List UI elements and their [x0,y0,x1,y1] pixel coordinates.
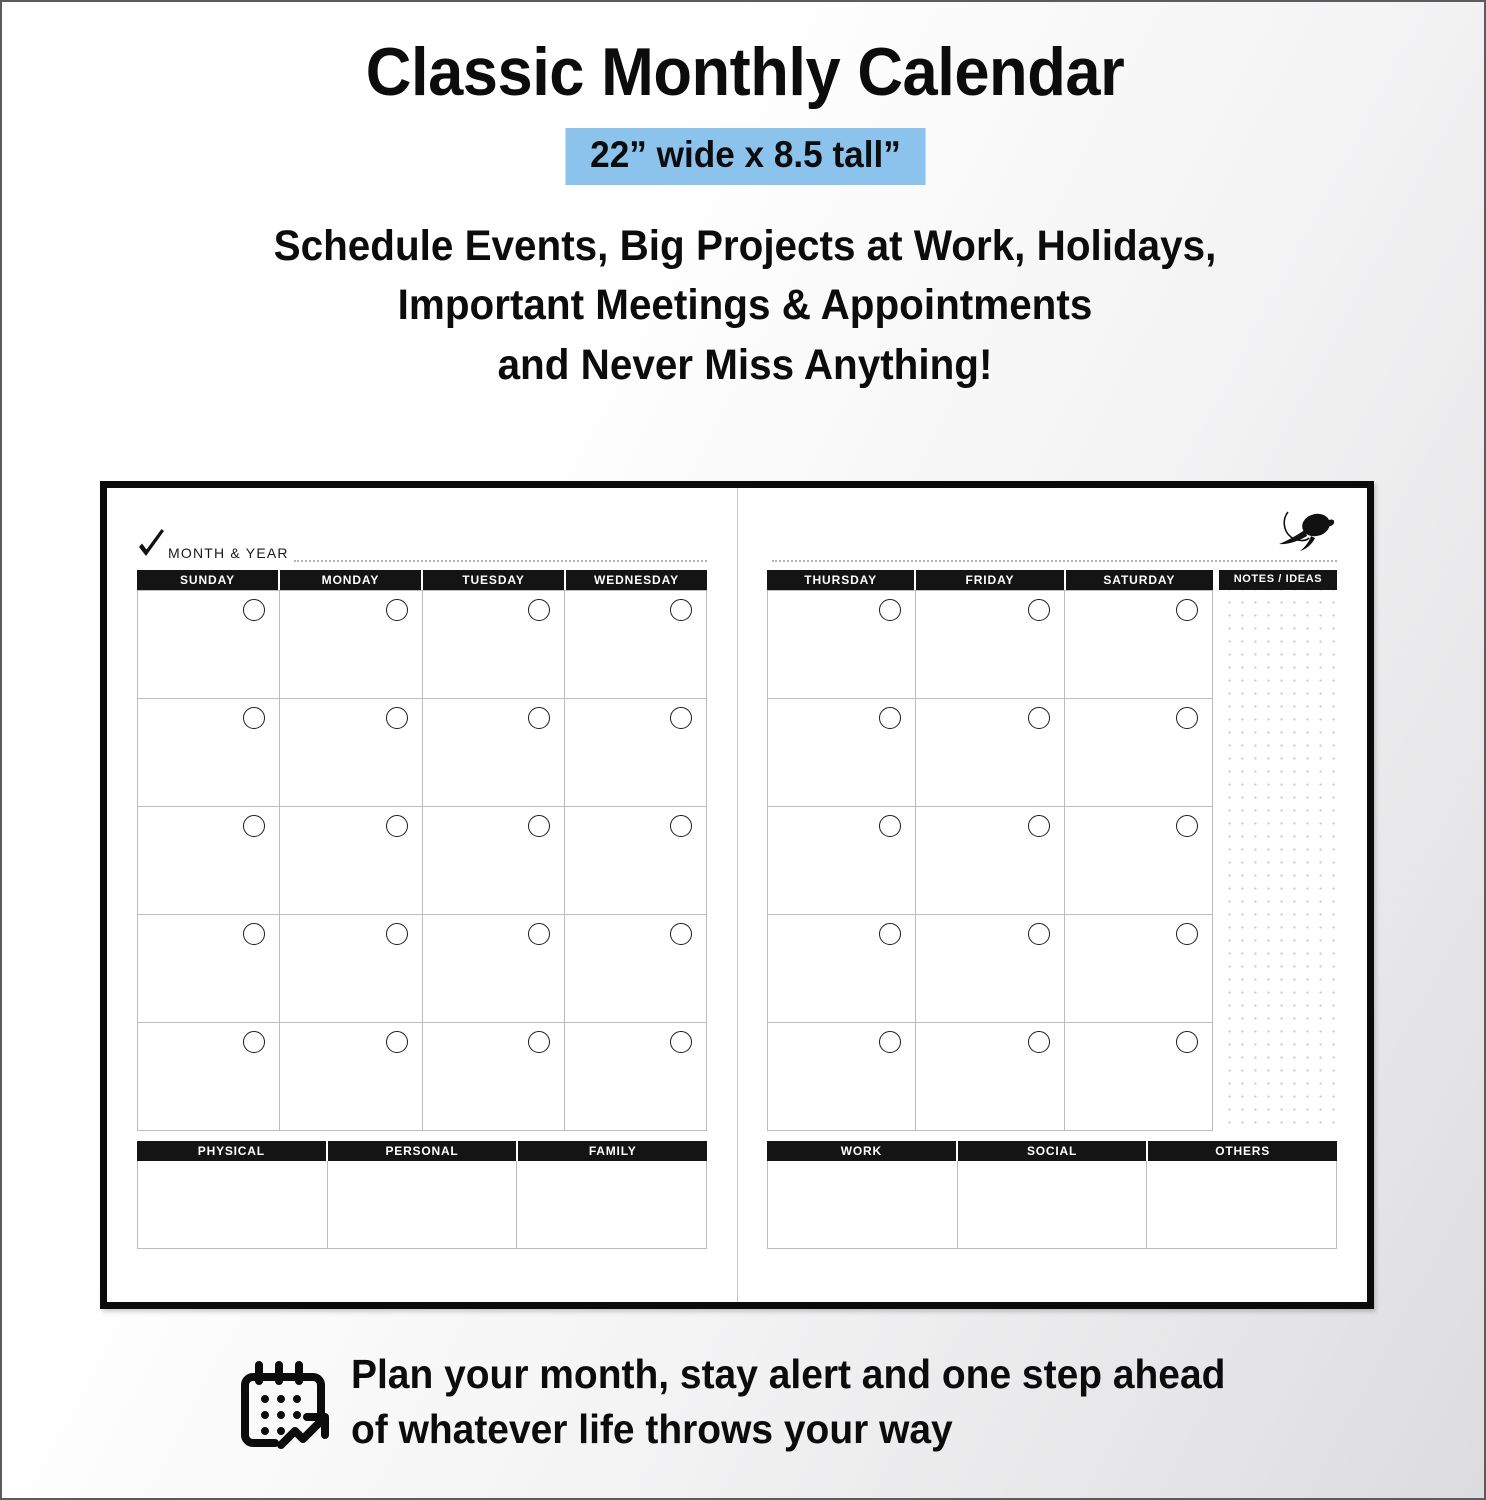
calendar-day-cell[interactable] [138,915,280,1023]
notes-ideas-header: NOTES / IDEAS [1219,570,1337,590]
right-day-header-row: THURSDAY FRIDAY SATURDAY NOTES / IDEAS [767,570,1337,590]
date-number-circle[interactable] [670,923,692,945]
notes-ideas-column [1219,590,1337,1131]
date-number-circle[interactable] [1176,599,1198,621]
calendar-week-row [768,591,1213,699]
date-number-circle[interactable] [386,815,408,837]
calendar-day-cell[interactable] [1065,915,1213,1023]
calendar-day-cell[interactable] [768,807,916,915]
date-number-circle[interactable] [386,707,408,729]
calendar-week-row [138,591,707,699]
right-category-grid: WORK SOCIAL OTHERS [767,1141,1337,1249]
date-number-circle[interactable] [243,923,265,945]
date-number-circle[interactable] [1028,923,1050,945]
right-header-line [767,518,1337,562]
date-number-circle[interactable] [670,815,692,837]
calendar-day-cell[interactable] [423,807,565,915]
calendar-day-cell[interactable] [1065,699,1213,807]
date-number-circle[interactable] [386,1031,408,1053]
right-grid-wrap [767,590,1337,1131]
day-header-friday: FRIDAY [916,570,1063,590]
calendar-day-cell[interactable] [916,915,1064,1023]
date-number-circle[interactable] [1028,1031,1050,1053]
month-year-label: MONTH & YEAR [168,545,289,562]
date-number-circle[interactable] [528,707,550,729]
date-number-circle[interactable] [243,599,265,621]
footer-text: Plan your month, stay alert and one step… [351,1347,1225,1456]
calendar-week-row [768,915,1213,1023]
category-box-personal[interactable] [328,1161,518,1249]
calendar-week-row [138,915,707,1023]
month-year-writeline[interactable] [294,549,707,562]
date-number-circle[interactable] [670,1031,692,1053]
calendar-week-row [768,807,1213,915]
date-number-circle[interactable] [879,923,901,945]
tagline-line-1: Schedule Events, Big Projects at Work, H… [274,222,1217,270]
footer-line-1: Plan your month, stay alert and one step… [351,1351,1225,1397]
date-number-circle[interactable] [528,1031,550,1053]
right-category-bodies [767,1161,1337,1249]
right-writeline[interactable] [772,549,1337,562]
calendar-day-cell[interactable] [280,699,422,807]
left-grid-wrap [137,590,707,1131]
calendar-day-cell[interactable] [768,1023,916,1131]
calendar-day-cell[interactable] [916,807,1064,915]
calendar-day-cell[interactable] [138,591,280,699]
category-box-physical[interactable] [138,1161,328,1249]
left-category-headers: PHYSICAL PERSONAL FAMILY [137,1141,707,1161]
calendar-day-cell[interactable] [138,1023,280,1131]
calendar-day-cell[interactable] [1065,591,1213,699]
notes-ideas-dotgrid[interactable] [1219,590,1337,1131]
date-number-circle[interactable] [243,815,265,837]
calendar-day-cell[interactable] [138,699,280,807]
calendar-day-cell[interactable] [423,699,565,807]
bird-silhouette-logo-icon [1275,508,1337,556]
header-section: Classic Monthly Calendar 22” wide x 8.5 … [2,2,1486,395]
day-header-monday: MONDAY [280,570,421,590]
date-number-circle[interactable] [879,815,901,837]
check-icon [137,528,167,562]
category-box-social[interactable] [958,1161,1148,1249]
tagline-line-2: Important Meetings & Appointments [398,281,1093,329]
date-number-circle[interactable] [386,599,408,621]
calendar-week-row [138,699,707,807]
calendar-right-page: THURSDAY FRIDAY SATURDAY NOTES / IDEAS W… [737,488,1367,1302]
category-header-family: FAMILY [518,1141,707,1161]
footer-section: Plan your month, stay alert and one step… [2,1347,1486,1457]
left-category-bodies [137,1161,707,1249]
calendar-pages: MONTH & YEAR SUNDAY MONDAY TUESDAY WEDNE… [107,488,1367,1302]
day-header-sunday: SUNDAY [137,570,278,590]
date-number-circle[interactable] [528,815,550,837]
size-badge-row: 22” wide x 8.5 tall” [2,128,1486,185]
day-header-thursday: THURSDAY [767,570,914,590]
left-day-header-row: SUNDAY MONDAY TUESDAY WEDNESDAY [137,570,707,590]
calendar-day-cell[interactable] [565,1023,707,1131]
calendar-day-cell[interactable] [280,1023,422,1131]
date-number-circle[interactable] [1176,707,1198,729]
calendar-left-page: MONTH & YEAR SUNDAY MONDAY TUESDAY WEDNE… [107,488,737,1302]
date-number-circle[interactable] [1028,707,1050,729]
calendar-day-cell[interactable] [916,591,1064,699]
calendar-day-cell[interactable] [280,915,422,1023]
category-header-others: OTHERS [1148,1141,1337,1161]
date-number-circle[interactable] [243,1031,265,1053]
calendar-week-row [768,699,1213,807]
month-year-field[interactable]: MONTH & YEAR [137,518,707,562]
date-number-circle[interactable] [1176,815,1198,837]
date-number-circle[interactable] [879,599,901,621]
category-header-social: SOCIAL [958,1141,1147,1161]
date-number-circle[interactable] [386,923,408,945]
right-category-section: WORK SOCIAL OTHERS [767,1141,1337,1249]
calendar-day-cell[interactable] [565,807,707,915]
category-header-personal: PERSONAL [328,1141,517,1161]
date-number-circle[interactable] [528,599,550,621]
date-number-circle[interactable] [670,599,692,621]
calendar-day-cell[interactable] [280,591,422,699]
calendar-day-cell[interactable] [565,699,707,807]
tagline-line-3: and Never Miss Anything! [498,341,993,389]
calendar-day-cell[interactable] [138,807,280,915]
right-category-headers: WORK SOCIAL OTHERS [767,1141,1337,1161]
calendar-day-cell[interactable] [768,591,916,699]
calendar-trend-icon [231,1353,335,1457]
calendar-day-cell[interactable] [565,915,707,1023]
date-number-circle[interactable] [1176,923,1198,945]
calendar-day-cell[interactable] [916,1023,1064,1131]
calendar-day-cell[interactable] [423,591,565,699]
date-number-circle[interactable] [1028,815,1050,837]
right-date-grid [767,590,1213,1131]
date-number-circle[interactable] [670,707,692,729]
category-header-physical: PHYSICAL [137,1141,326,1161]
calendar-day-cell[interactable] [1065,807,1213,915]
calendar-spread: MONTH & YEAR SUNDAY MONDAY TUESDAY WEDNE… [100,481,1374,1309]
footer-line-2: of whatever life throws your way [351,1406,953,1452]
day-header-wednesday: WEDNESDAY [566,570,707,590]
category-box-family[interactable] [517,1161,707,1249]
calendar-week-row [138,1023,707,1131]
date-number-circle[interactable] [879,1031,901,1053]
calendar-week-row [768,1023,1213,1131]
day-header-tuesday: TUESDAY [423,570,564,590]
tagline: Schedule Events, Big Projects at Work, H… [47,185,1444,395]
calendar-day-cell[interactable] [280,807,422,915]
calendar-day-cell[interactable] [768,915,916,1023]
date-number-circle[interactable] [528,923,550,945]
calendar-week-row [138,807,707,915]
calendar-day-cell[interactable] [916,699,1064,807]
calendar-day-cell[interactable] [423,1023,565,1131]
calendar-day-cell[interactable] [565,591,707,699]
date-number-circle[interactable] [1028,599,1050,621]
date-number-circle[interactable] [243,707,265,729]
size-badge: 22” wide x 8.5 tall” [565,128,925,185]
left-category-grid: PHYSICAL PERSONAL FAMILY [137,1141,707,1249]
date-number-circle[interactable] [879,707,901,729]
category-header-work: WORK [767,1141,956,1161]
page-title: Classic Monthly Calendar [54,2,1436,108]
calendar-day-cell[interactable] [1065,1023,1213,1131]
date-number-circle[interactable] [1176,1031,1198,1053]
calendar-day-cell[interactable] [423,915,565,1023]
category-box-others[interactable] [1147,1161,1337,1249]
product-image-canvas: Classic Monthly Calendar 22” wide x 8.5 … [0,0,1486,1500]
day-header-saturday: SATURDAY [1066,570,1213,590]
category-box-work[interactable] [768,1161,958,1249]
left-category-section: PHYSICAL PERSONAL FAMILY [137,1141,707,1249]
calendar-day-cell[interactable] [768,699,916,807]
left-date-grid [137,590,707,1131]
